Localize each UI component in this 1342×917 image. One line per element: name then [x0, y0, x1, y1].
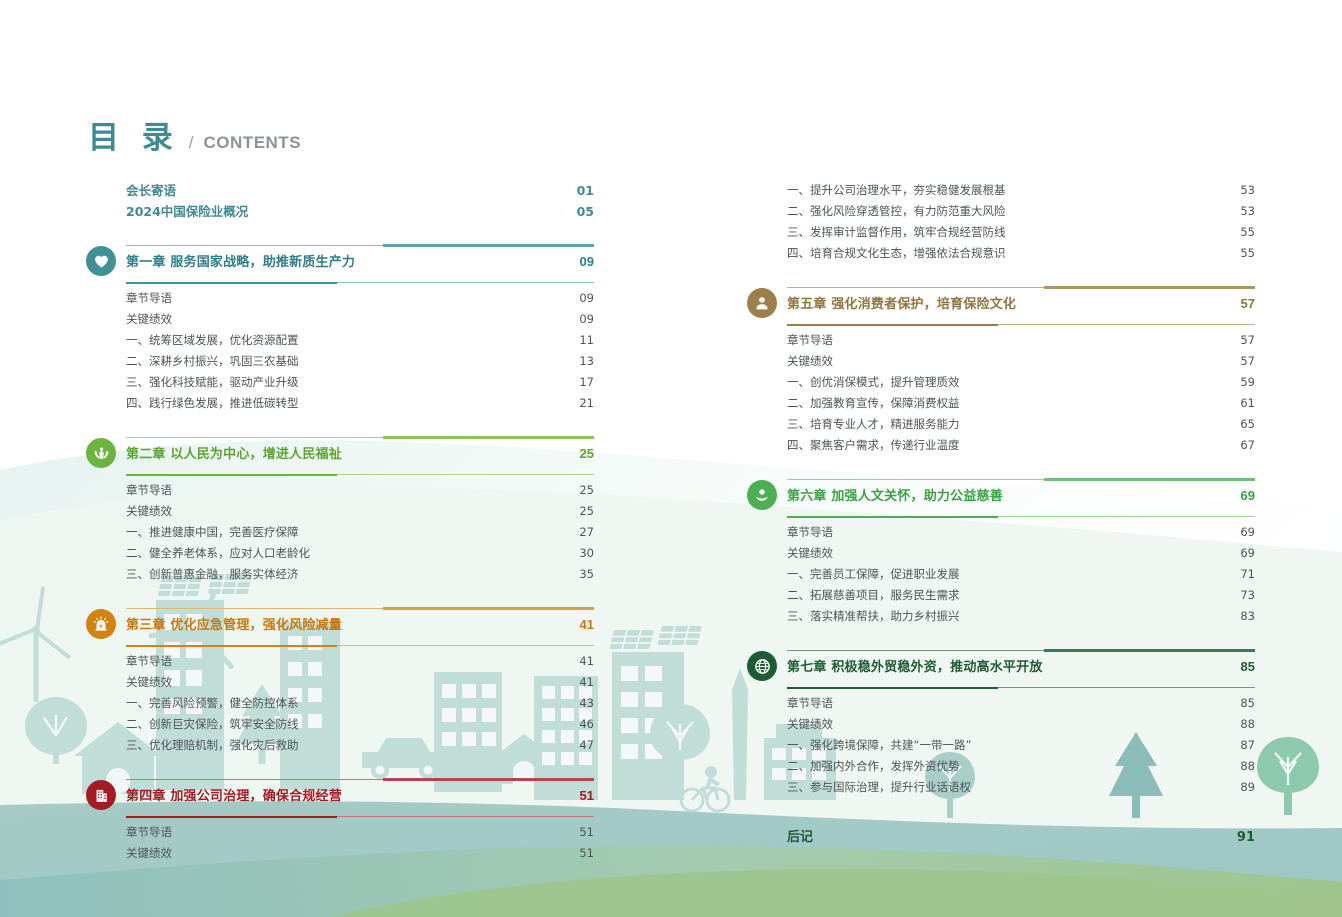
chapter-page: 41	[580, 617, 594, 632]
chapter-rule-top	[787, 649, 1255, 652]
section-page: 21	[579, 393, 594, 414]
section-page: 27	[579, 522, 594, 543]
consumer-person-icon	[747, 288, 777, 318]
section-page: 11	[579, 330, 594, 351]
section-page: 53	[1240, 180, 1255, 201]
chapter-5-header[interactable]: 第五章 强化消费者保护，培育保险文化 57	[787, 286, 1255, 326]
chapter-page: 09	[580, 254, 594, 269]
section-label: 二、拓展慈善项目，服务民生需求	[787, 585, 960, 606]
section-row[interactable]: 章节导语25	[126, 480, 594, 501]
chapter-7-sections: 章节导语85 关键绩效88 一、强化跨境保障，共建“一带一路”87 二、加强内外…	[787, 693, 1255, 798]
chapter-page: 57	[1241, 296, 1255, 311]
chapter-6-sections: 章节导语69 关键绩效69 一、完善员工保障，促进职业发展71 二、拓展慈善项目…	[787, 522, 1255, 627]
chapter-rule-top	[126, 607, 594, 610]
section-row[interactable]: 二、拓展慈善项目，服务民生需求73	[787, 585, 1255, 606]
chapter-title: 第六章 加强人文关怀，助力公益慈善	[787, 485, 1003, 504]
section-page: 88	[1240, 756, 1255, 777]
chapter-7-header[interactable]: 第七章 积极稳外贸稳外资，推动高水平开放 85	[787, 649, 1255, 689]
section-page: 46	[579, 714, 594, 735]
front-matter-list: 会长寄语 01 2024中国保险业概况 05	[126, 180, 594, 222]
section-page: 67	[1240, 435, 1255, 456]
section-page: 55	[1240, 243, 1255, 264]
chapter-1-header[interactable]: 第一章 服务国家战略，助推新质生产力 09	[126, 244, 594, 284]
chapter-title: 第一章 服务国家战略，助推新质生产力	[126, 251, 355, 270]
chapter-rule-top	[787, 478, 1255, 481]
section-page: 30	[579, 543, 594, 564]
section-row[interactable]: 一、强化跨境保障，共建“一带一路”87	[787, 735, 1255, 756]
section-label: 关键绩效	[126, 672, 172, 693]
heart-icon	[86, 246, 116, 276]
section-row[interactable]: 三、发挥审计监督作用，筑牢合规经营防线55	[787, 222, 1255, 243]
section-label: 关键绩效	[126, 501, 172, 522]
section-label: 章节导语	[126, 480, 172, 501]
section-label: 四、培育合规文化生态，增强依法合规意识	[787, 243, 1006, 264]
section-page: 69	[1240, 522, 1255, 543]
section-row[interactable]: 二、加强内外合作，发挥外资优势88	[787, 756, 1255, 777]
section-row[interactable]: 三、强化科技赋能，驱动产业升级17	[126, 372, 594, 393]
section-row[interactable]: 二、创新巨灾保险，筑牢安全防线46	[126, 714, 594, 735]
section-page: 59	[1240, 372, 1255, 393]
page-title: 目 录 / CONTENTS	[88, 112, 301, 157]
section-page: 17	[579, 372, 594, 393]
section-label: 关键绩效	[126, 843, 172, 864]
chapter-3-sections: 章节导语41 关键绩效41 一、完善风险预警，健全防控体系43 二、创新巨灾保险…	[126, 651, 594, 756]
chapter-rule-top	[787, 286, 1255, 289]
chapter-rule-top	[126, 436, 594, 439]
section-page: 41	[579, 672, 594, 693]
section-row[interactable]: 章节导语85	[787, 693, 1255, 714]
section-row[interactable]: 章节导语69	[787, 522, 1255, 543]
section-row[interactable]: 三、参与国际治理，提升行业话语权89	[787, 777, 1255, 798]
section-page: 55	[1240, 222, 1255, 243]
section-label: 一、提升公司治理水平，夯实稳健发展根基	[787, 180, 1006, 201]
section-page: 61	[1240, 393, 1255, 414]
section-label: 一、推进健康中国，完善医疗保障	[126, 522, 299, 543]
section-label: 章节导语	[787, 522, 833, 543]
section-label: 三、创新普惠金融，服务实体经济	[126, 564, 299, 585]
section-page: 57	[1240, 330, 1255, 351]
section-page: 43	[579, 693, 594, 714]
chapter-5-sections: 章节导语57 关键绩效57 一、创优消保模式，提升管理质效59 二、加强教育宣传…	[787, 330, 1255, 456]
section-page: 85	[1240, 693, 1255, 714]
section-label: 章节导语	[787, 330, 833, 351]
section-page: 47	[579, 735, 594, 756]
section-row[interactable]: 章节导语41	[126, 651, 594, 672]
toc-title-separator: /	[189, 133, 194, 153]
section-label: 三、落实精准帮扶，助力乡村振兴	[787, 606, 960, 627]
section-page: 53	[1240, 201, 1255, 222]
section-row[interactable]: 一、创优消保模式，提升管理质效59	[787, 372, 1255, 393]
section-row[interactable]: 四、践行绿色发展，推进低碳转型21	[126, 393, 594, 414]
chapter-4: 第四章 加强公司治理，确保合规经营 51 章节导语51 关键绩效51	[126, 778, 594, 864]
section-label: 关键绩效	[126, 309, 172, 330]
entry-label: 2024中国保险业概况	[126, 201, 248, 222]
section-page: 89	[1240, 777, 1255, 798]
toc-entry-postscript[interactable]: 后记 91	[787, 826, 1255, 845]
entry-page: 91	[1237, 830, 1255, 845]
chapter-2-header[interactable]: 第二章 以人民为中心，增进人民福祉 25	[126, 436, 594, 476]
section-label: 关键绩效	[787, 543, 833, 564]
section-row[interactable]: 三、优化理赔机制，强化灾后救助47	[126, 735, 594, 756]
section-row[interactable]: 关键绩效88	[787, 714, 1255, 735]
chapter-page: 51	[580, 788, 594, 803]
section-label: 二、加强教育宣传，保障消费权益	[787, 393, 960, 414]
chapter-1: 第一章 服务国家战略，助推新质生产力 09 章节导语09 关键绩效09 一、统筹…	[126, 244, 594, 414]
toc-title-cn: 目 录	[88, 112, 179, 157]
chapter-4-header[interactable]: 第四章 加强公司治理，确保合规经营 51	[126, 778, 594, 818]
section-label: 二、强化风险穿透管控，有力防范重大风险	[787, 201, 1006, 222]
section-label: 章节导语	[126, 651, 172, 672]
section-label: 三、培育专业人才，精进服务能力	[787, 414, 960, 435]
section-page: 51	[579, 822, 594, 843]
section-row[interactable]: 关键绩效57	[787, 351, 1255, 372]
chapter-6-header[interactable]: 第六章 加强人文关怀，助力公益慈善 69	[787, 478, 1255, 518]
chapter-5: 第五章 强化消费者保护，培育保险文化 57 章节导语57 关键绩效57 一、创优…	[787, 286, 1255, 456]
chapter-4-sections-continued: 一、提升公司治理水平，夯实稳健发展根基53 二、强化风险穿透管控，有力防范重大风…	[787, 180, 1255, 264]
section-row[interactable]: 二、深耕乡村振兴，巩固三农基础13	[126, 351, 594, 372]
section-page: 83	[1240, 606, 1255, 627]
chapter-2-sections: 章节导语25 关键绩效25 一、推进健康中国，完善医疗保障27 二、健全养老体系…	[126, 480, 594, 585]
section-page: 25	[579, 501, 594, 522]
section-page: 35	[579, 564, 594, 585]
section-page: 51	[579, 843, 594, 864]
section-row[interactable]: 一、统筹区域发展，优化资源配置11	[126, 330, 594, 351]
section-row[interactable]: 一、提升公司治理水平，夯实稳健发展根基53	[787, 180, 1255, 201]
section-page: 69	[1240, 543, 1255, 564]
section-label: 一、强化跨境保障，共建“一带一路”	[787, 735, 971, 756]
section-page: 09	[579, 309, 594, 330]
section-row[interactable]: 四、聚焦客户需求，传递行业温度67	[787, 435, 1255, 456]
chapter-title: 第二章 以人民为中心，增进人民福祉	[126, 443, 342, 462]
section-row[interactable]: 三、培育专业人才，精进服务能力65	[787, 414, 1255, 435]
entry-label: 会长寄语	[126, 180, 176, 201]
section-label: 一、完善风险预警，健全防控体系	[126, 693, 299, 714]
toc-column-right: 一、提升公司治理水平，夯实稳健发展根基53 二、强化风险穿透管控，有力防范重大风…	[787, 180, 1255, 845]
chapter-6: 第六章 加强人文关怀，助力公益慈善 69 章节导语69 关键绩效69 一、完善员…	[787, 478, 1255, 627]
section-label: 关键绩效	[787, 351, 833, 372]
entry-label: 后记	[787, 826, 813, 845]
section-page: 73	[1240, 585, 1255, 606]
section-row[interactable]: 关键绩效41	[126, 672, 594, 693]
section-page: 41	[579, 651, 594, 672]
toc-column-left: 会长寄语 01 2024中国保险业概况 05 第一章 服务国家战略，助推新质生产…	[126, 180, 594, 864]
section-label: 三、优化理赔机制，强化灾后救助	[126, 735, 299, 756]
section-label: 四、践行绿色发展，推进低碳转型	[126, 393, 299, 414]
chapter-4-sections: 章节导语51 关键绩效51	[126, 822, 594, 864]
section-label: 四、聚焦客户需求，传递行业温度	[787, 435, 960, 456]
toc-title-en: CONTENTS	[204, 133, 302, 153]
hands-people-icon	[86, 438, 116, 468]
section-page: 87	[1240, 735, 1255, 756]
section-row[interactable]: 章节导语57	[787, 330, 1255, 351]
chapter-title: 第四章 加强公司治理，确保合规经营	[126, 785, 342, 804]
section-label: 章节导语	[126, 822, 172, 843]
section-page: 13	[579, 351, 594, 372]
section-label: 二、深耕乡村振兴，巩固三农基础	[126, 351, 299, 372]
section-row[interactable]: 关键绩效69	[787, 543, 1255, 564]
chapter-title: 第五章 强化消费者保护，培育保险文化	[787, 293, 1016, 312]
section-label: 二、加强内外合作，发挥外资优势	[787, 756, 960, 777]
toc-entry-preface[interactable]: 会长寄语 01	[126, 180, 594, 201]
chapter-1-sections: 章节导语09 关键绩效09 一、统筹区域发展，优化资源配置11 二、深耕乡村振兴…	[126, 288, 594, 414]
toc-page: 目 录 / CONTENTS 会长寄语 01 2024中国保险业概况 05	[0, 0, 1342, 917]
section-label: 一、完善员工保障，促进职业发展	[787, 564, 960, 585]
section-page: 71	[1240, 564, 1255, 585]
chapter-page: 69	[1241, 488, 1255, 503]
chapter-rule-bottom	[787, 323, 1255, 326]
section-label: 二、健全养老体系，应对人口老龄化	[126, 543, 310, 564]
chapter-rule-bottom	[787, 515, 1255, 518]
chapter-rule-top	[126, 778, 594, 781]
section-row[interactable]: 关键绩效25	[126, 501, 594, 522]
section-label: 二、创新巨灾保险，筑牢安全防线	[126, 714, 299, 735]
section-row[interactable]: 一、完善风险预警，健全防控体系43	[126, 693, 594, 714]
chapter-3-header[interactable]: 第三章 优化应急管理，强化风险减量 41	[126, 607, 594, 647]
section-row[interactable]: 章节导语09	[126, 288, 594, 309]
section-page: 25	[579, 480, 594, 501]
chapter-page: 25	[580, 446, 594, 461]
section-row[interactable]: 三、落实精准帮扶，助力乡村振兴83	[787, 606, 1255, 627]
section-row[interactable]: 关键绩效51	[126, 843, 594, 864]
section-label: 章节导语	[126, 288, 172, 309]
chapter-2: 第二章 以人民为中心，增进人民福祉 25 章节导语25 关键绩效25 一、推进健…	[126, 436, 594, 585]
section-row[interactable]: 一、推进健康中国，完善医疗保障27	[126, 522, 594, 543]
section-row[interactable]: 二、强化风险穿透管控，有力防范重大风险53	[787, 201, 1255, 222]
section-page: 57	[1240, 351, 1255, 372]
chapter-7: 第七章 积极稳外贸稳外资，推动高水平开放 85 章节导语85 关键绩效88 一、…	[787, 649, 1255, 798]
section-row[interactable]: 二、加强教育宣传，保障消费权益61	[787, 393, 1255, 414]
section-page: 09	[579, 288, 594, 309]
section-page: 65	[1240, 414, 1255, 435]
section-row[interactable]: 四、培育合规文化生态，增强依法合规意识55	[787, 243, 1255, 264]
care-hand-icon	[747, 480, 777, 510]
section-row[interactable]: 二、健全养老体系，应对人口老龄化30	[126, 543, 594, 564]
globe-icon	[747, 651, 777, 681]
toc-entry-overview[interactable]: 2024中国保险业概况 05	[126, 201, 594, 222]
section-page: 88	[1240, 714, 1255, 735]
section-label: 一、创优消保模式，提升管理质效	[787, 372, 960, 393]
section-row[interactable]: 三、创新普惠金融，服务实体经济35	[126, 564, 594, 585]
chapter-rule-bottom	[126, 815, 594, 818]
section-row[interactable]: 一、完善员工保障，促进职业发展71	[787, 564, 1255, 585]
chapter-title: 第三章 优化应急管理，强化风险减量	[126, 614, 342, 633]
chapter-rule-bottom	[787, 686, 1255, 689]
chapter-rule-bottom	[126, 281, 594, 284]
section-row[interactable]: 章节导语51	[126, 822, 594, 843]
section-label: 章节导语	[787, 693, 833, 714]
section-label: 关键绩效	[787, 714, 833, 735]
section-label: 三、发挥审计监督作用，筑牢合规经营防线	[787, 222, 1006, 243]
chapter-rule-top	[126, 244, 594, 247]
chapter-rule-bottom	[126, 473, 594, 476]
entry-page: 05	[577, 201, 594, 222]
entry-page: 01	[577, 180, 594, 201]
alarm-siren-icon	[86, 609, 116, 639]
section-label: 三、参与国际治理，提升行业话语权	[787, 777, 971, 798]
section-row[interactable]: 关键绩效09	[126, 309, 594, 330]
section-label: 三、强化科技赋能，驱动产业升级	[126, 372, 299, 393]
building-icon	[86, 780, 116, 810]
chapter-3: 第三章 优化应急管理，强化风险减量 41 章节导语41 关键绩效41 一、完善风…	[126, 607, 594, 756]
chapter-title: 第七章 积极稳外贸稳外资，推动高水平开放	[787, 656, 1043, 675]
section-label: 一、统筹区域发展，优化资源配置	[126, 330, 299, 351]
chapter-rule-bottom	[126, 644, 594, 647]
chapter-page: 85	[1241, 659, 1255, 674]
